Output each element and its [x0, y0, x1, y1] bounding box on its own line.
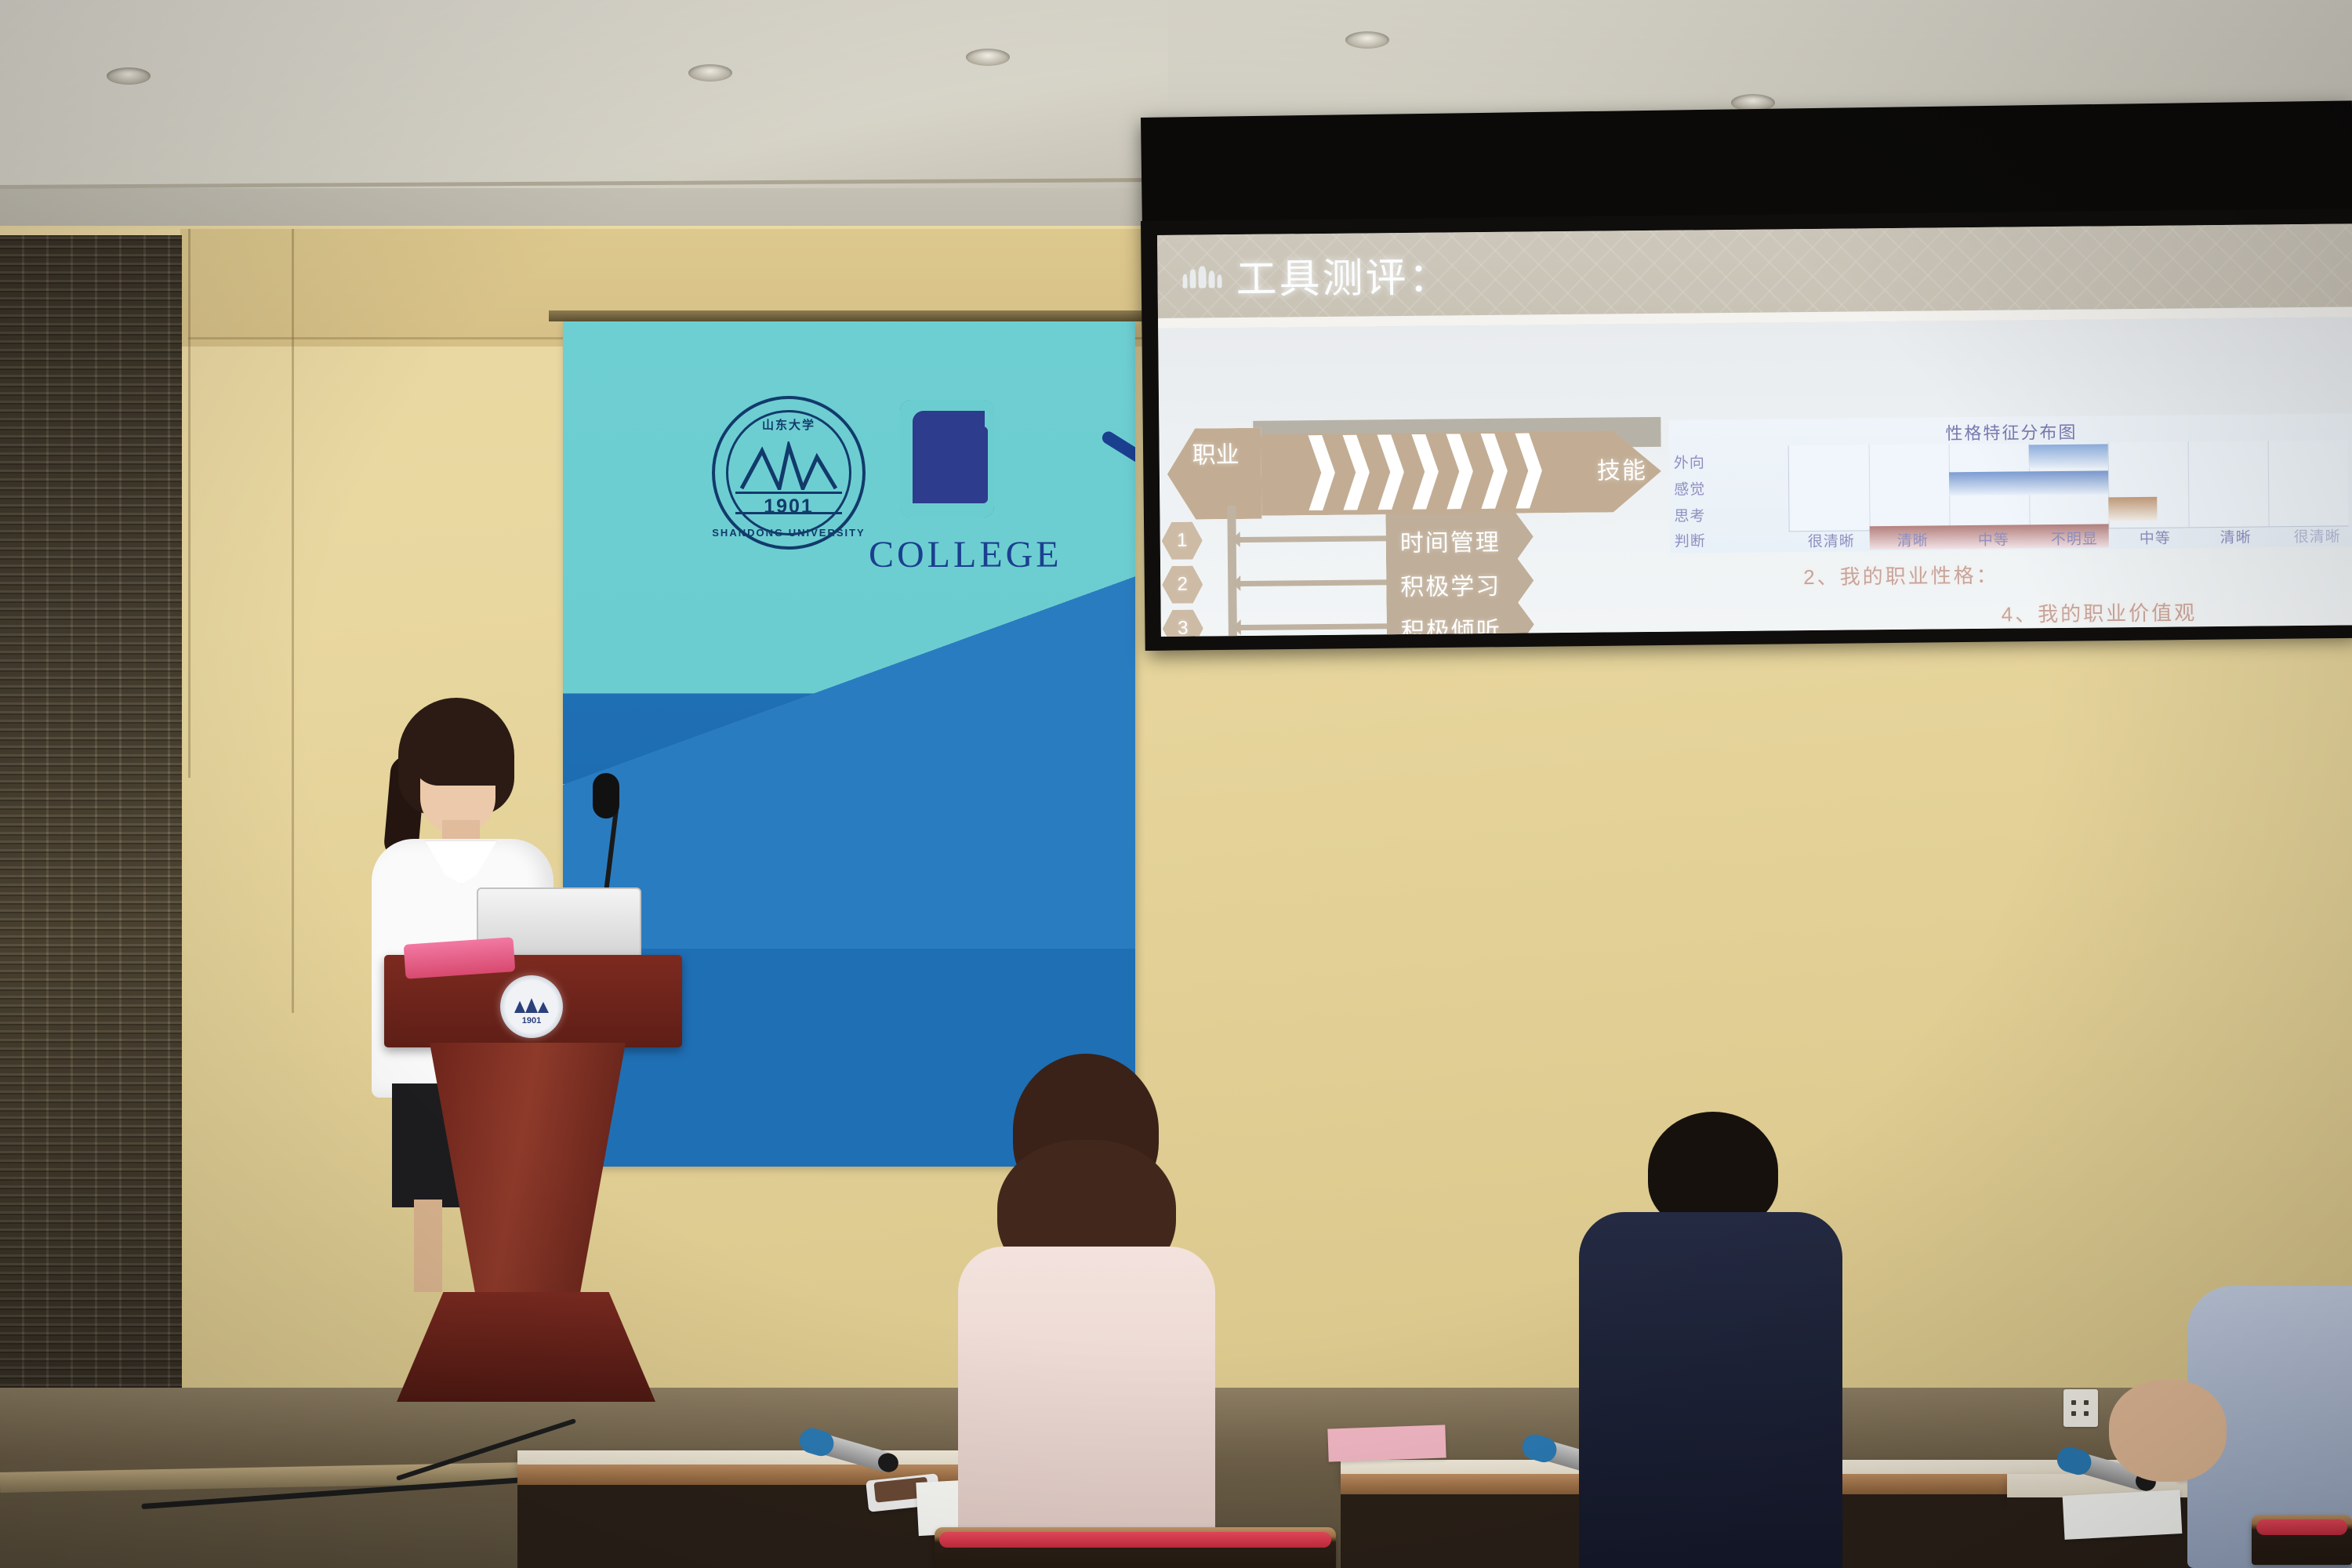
wall-joint-1 — [188, 229, 191, 778]
podium-university-seal-icon: 1901 — [500, 975, 563, 1038]
banner-rod — [549, 310, 1149, 321]
step-label: 时间管理 — [1400, 523, 1501, 558]
step-tag: 积极学习 — [1386, 556, 1534, 606]
slide-title: 工具测评： — [1236, 244, 1452, 305]
podium-column — [430, 1043, 626, 1301]
step-number: 1 — [1162, 521, 1203, 559]
downlight-ceiling-2 — [688, 64, 732, 82]
step-label: 积极倾听 — [1401, 611, 1501, 637]
podium-seal-year: 1901 — [500, 1016, 563, 1025]
step-number-badge: 3 — [1163, 609, 1203, 637]
ceiling-soffit — [0, 0, 1168, 188]
seal-top-text: 山东大学 — [712, 416, 866, 433]
audience-chair-left — [935, 1527, 1336, 1568]
chart-tick-label: 很清晰 — [2278, 524, 2352, 546]
stone-feature-wall — [0, 235, 182, 1388]
presentation-slide: 工具测评： 职业 — [1157, 223, 2352, 637]
step-number: 2 — [1162, 565, 1203, 603]
pink-notepad — [1327, 1425, 1446, 1461]
bar-sikao — [2109, 497, 2158, 521]
process-end-label: 技能 — [1597, 451, 1647, 486]
section-heading-2: 2、我的职业性格： — [1803, 560, 1999, 590]
downlight-ceiling-1 — [107, 67, 151, 85]
step-number-badge: 2 — [1162, 565, 1203, 603]
paper-stack — [2063, 1490, 2183, 1540]
bar-waixiang — [2028, 444, 2108, 468]
chart-row-label: 外向 — [1674, 451, 1705, 472]
power-outlet — [2063, 1389, 2098, 1427]
downlight-ceiling-4 — [1345, 31, 1389, 49]
seal-year: 1901 — [712, 495, 866, 518]
chart-tick-label: 很清晰 — [1792, 529, 1871, 551]
water-bottle — [1501, 1344, 1538, 1446]
step-tag: 时间管理 — [1385, 512, 1534, 562]
downlight-ceiling-3 — [966, 49, 1010, 66]
process-start-label: 职业 — [1192, 441, 1240, 471]
seal-mountain-icon — [739, 441, 839, 490]
college-word: COLLEGE — [869, 533, 1062, 576]
audience-arm — [2109, 1380, 2227, 1482]
process-start-badge: 职业 — [1167, 428, 1261, 520]
chart-tick-label: 中等 — [1955, 528, 2033, 550]
podium-microphone-head-icon — [593, 773, 619, 818]
audience-top — [958, 1247, 1215, 1568]
bar-ganjue — [1949, 470, 2109, 495]
podium: 1901 — [384, 955, 682, 1402]
chart-tick-label: 不明显 — [2035, 527, 2114, 549]
chart-tick-label: 清晰 — [1874, 528, 1952, 550]
step-label: 积极学习 — [1400, 567, 1501, 602]
water-bottle — [1979, 1375, 2016, 1477]
process-chevron-band: 职业 技能 — [1165, 429, 1661, 512]
analysis-panel: 性格特征分布图 外向 感觉 思考 判断 — [1661, 410, 2352, 637]
chart-plot-area — [1788, 440, 2349, 532]
step-connector — [1232, 579, 1388, 586]
chart-row-label: 判断 — [1675, 529, 1706, 550]
chart-tick-label: 中等 — [2116, 526, 2194, 548]
shandong-university-seal-icon: 山东大学 1901 SHANDONG UNIVERSITY — [712, 396, 866, 550]
people-group-icon — [1182, 261, 1221, 288]
audience-jacket — [1579, 1212, 1842, 1568]
personality-distribution-chart: 性格特征分布图 外向 感觉 思考 判断 — [1668, 413, 2352, 553]
college-stamp-icon — [900, 400, 994, 517]
wall-joint-2 — [292, 229, 294, 1013]
chart-row-label: 感觉 — [1674, 477, 1705, 499]
process-panel: 职业 技能 1 时间管理 2 — [1159, 417, 1664, 637]
step-number: 3 — [1163, 609, 1203, 637]
presenter-bangs — [412, 726, 506, 786]
slide-body: 职业 技能 1 时间管理 2 — [1158, 317, 2352, 637]
podium-base — [397, 1292, 655, 1402]
audience-chair-right — [2252, 1515, 2352, 1565]
process-spine — [1227, 506, 1238, 637]
chart-row-label: 思考 — [1674, 504, 1705, 525]
seal-bottom-text: SHANDONG UNIVERSITY — [712, 527, 866, 539]
section-heading-4: 4、我的职业价值观 — [2002, 597, 2198, 627]
step-number-badge: 1 — [1162, 521, 1203, 559]
lecture-hall-photo: 山东大学 1901 SHANDONG UNIVERSITY COLLEGE 工具 — [0, 0, 2352, 1568]
step-connector — [1232, 535, 1388, 543]
step-tag: 积极倾听 — [1386, 600, 1534, 637]
projector-screen: 工具测评： 职业 — [1157, 223, 2352, 637]
banner-brush-stroke — [1100, 429, 1135, 489]
chart-tick-label: 清晰 — [2197, 525, 2275, 547]
step-connector — [1233, 623, 1388, 630]
